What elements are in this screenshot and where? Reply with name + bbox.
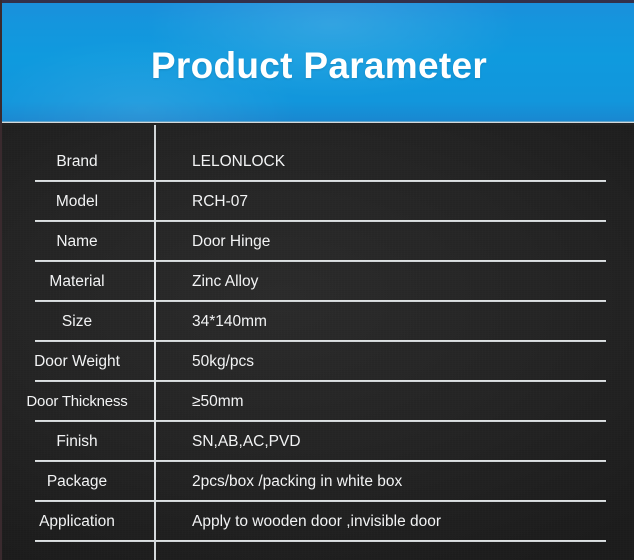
row-value-brand: LELONLOCK: [192, 142, 285, 182]
row-label-brand: Brand: [2, 142, 152, 182]
row-value-model: RCH-07: [192, 182, 248, 222]
page-title: Product Parameter: [2, 44, 634, 88]
row-value-door-weight: 50kg/pcs: [192, 342, 254, 382]
table-column-divider: [154, 125, 156, 560]
parameter-table: Brand LELONLOCK Model RCH-07 Name Door H…: [2, 125, 634, 560]
row-label-size: Size: [2, 302, 152, 342]
table-row: Model RCH-07: [2, 182, 634, 222]
product-parameter-page: Product Parameter Brand LELONLOCK Model …: [0, 0, 634, 560]
row-value-package: 2pcs/box /packing in white box: [192, 462, 402, 502]
row-value-size: 34*140mm: [192, 302, 267, 342]
row-label-door-weight: Door Weight: [2, 342, 152, 382]
row-label-model: Model: [2, 182, 152, 222]
row-label-door-thickness: Door Thickness: [2, 382, 152, 422]
table-row-partial: [2, 542, 634, 560]
row-label-application: Application: [2, 502, 152, 542]
row-value-finish: SN,AB,AC,PVD: [192, 422, 301, 462]
row-label-package: Package: [2, 462, 152, 502]
row-value-material: Zinc Alloy: [192, 262, 258, 302]
row-label-finish: Finish: [2, 422, 152, 462]
table-row: Name Door Hinge: [2, 222, 634, 262]
table-row: Door Thickness ≥50mm: [2, 382, 634, 422]
header-banner: Product Parameter: [2, 0, 634, 123]
table-row: Application Apply to wooden door ,invisi…: [2, 502, 634, 542]
table-row: Size 34*140mm: [2, 302, 634, 342]
table-row: Brand LELONLOCK: [2, 142, 634, 182]
row-label-material: Material: [2, 262, 152, 302]
table-row: Package 2pcs/box /packing in white box: [2, 462, 634, 502]
row-label-partial: [2, 542, 152, 560]
row-value-application: Apply to wooden door ,invisible door: [192, 502, 441, 542]
table-row: Door Weight 50kg/pcs: [2, 342, 634, 382]
row-label-name: Name: [2, 222, 152, 262]
row-value-door-thickness: ≥50mm: [192, 382, 244, 422]
table-row: Material Zinc Alloy: [2, 262, 634, 302]
row-value-name: Door Hinge: [192, 222, 270, 262]
table-row: Finish SN,AB,AC,PVD: [2, 422, 634, 462]
